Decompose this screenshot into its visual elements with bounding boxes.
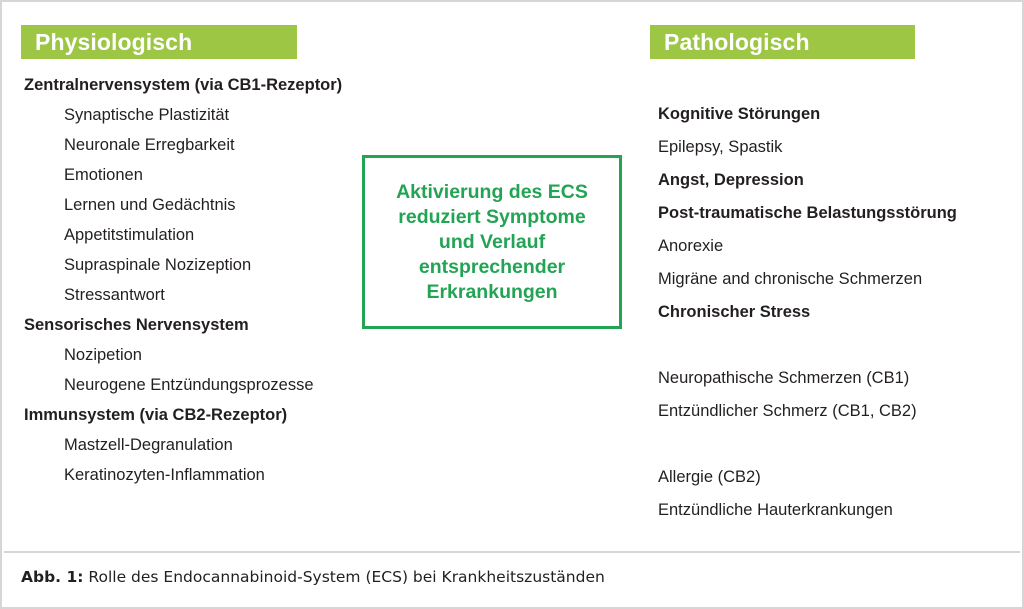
list-item: Neuronale Erregbarkeit xyxy=(24,130,354,160)
pathological-list: Kognitive Störungen Epilepsy, Spastik An… xyxy=(658,98,1018,527)
physiological-list: Zentralnervensystem (via CB1-Rezeptor) S… xyxy=(24,70,354,490)
list-item: Stressantwort xyxy=(24,280,354,310)
figure-caption-text: Rolle des Endocannabinoid-System (ECS) b… xyxy=(88,568,604,586)
list-item: Angst, Depression xyxy=(658,164,1018,197)
list-item: Synaptische Plastizität xyxy=(24,100,354,130)
list-item: Neurogene Entzündungsprozesse xyxy=(24,370,354,400)
list-block-spacer xyxy=(658,329,1018,362)
list-item: Appetitstimulation xyxy=(24,220,354,250)
list-item: Migräne and chronische Schmerzen xyxy=(658,263,1018,296)
list-item: Emotionen xyxy=(24,160,354,190)
list-item: Mastzell-Degranulation xyxy=(24,430,354,460)
center-callout-text: Aktivierung des ECS reduziert Symptome u… xyxy=(365,180,619,305)
column-header-physiological-label: Physiologisch xyxy=(35,29,192,55)
figure-caption: Abb. 1: Rolle des Endocannabinoid-System… xyxy=(21,568,605,586)
list-item: Epilepsy, Spastik xyxy=(658,131,1018,164)
list-item: Chronischer Stress xyxy=(658,296,1018,329)
group-heading: Zentralnervensystem (via CB1-Rezeptor) xyxy=(24,70,354,100)
list-item: Keratinozyten-Inflammation xyxy=(24,460,354,490)
column-header-physiological: Physiologisch xyxy=(21,25,297,59)
figure-caption-label: Abb. 1: xyxy=(21,568,83,586)
center-callout-box: Aktivierung des ECS reduziert Symptome u… xyxy=(362,155,622,329)
list-item: Supraspinale Nozizeption xyxy=(24,250,354,280)
column-header-pathological-label: Pathologisch xyxy=(664,29,810,55)
list-item: Neuropathische Schmerzen (CB1) xyxy=(658,362,1018,395)
group-heading: Immunsystem (via CB2-Rezeptor) xyxy=(24,400,354,430)
column-header-pathological: Pathologisch xyxy=(650,25,915,59)
list-item: Nozipetion xyxy=(24,340,354,370)
figure-container: Physiologisch Pathologisch Zentralnerven… xyxy=(0,0,1024,609)
list-item: Allergie (CB2) xyxy=(658,461,1018,494)
list-item: Post-traumatische Belastungsstörung xyxy=(658,197,1018,230)
list-item: Entzündliche Hauterkrankungen xyxy=(658,494,1018,527)
list-item: Anorexie xyxy=(658,230,1018,263)
group-heading: Sensorisches Nervensystem xyxy=(24,310,354,340)
caption-divider xyxy=(4,551,1020,553)
list-item: Entzündlicher Schmerz (CB1, CB2) xyxy=(658,395,1018,428)
list-item: Lernen und Gedächtnis xyxy=(24,190,354,220)
list-item: Kognitive Störungen xyxy=(658,98,1018,131)
list-block-spacer xyxy=(658,428,1018,461)
